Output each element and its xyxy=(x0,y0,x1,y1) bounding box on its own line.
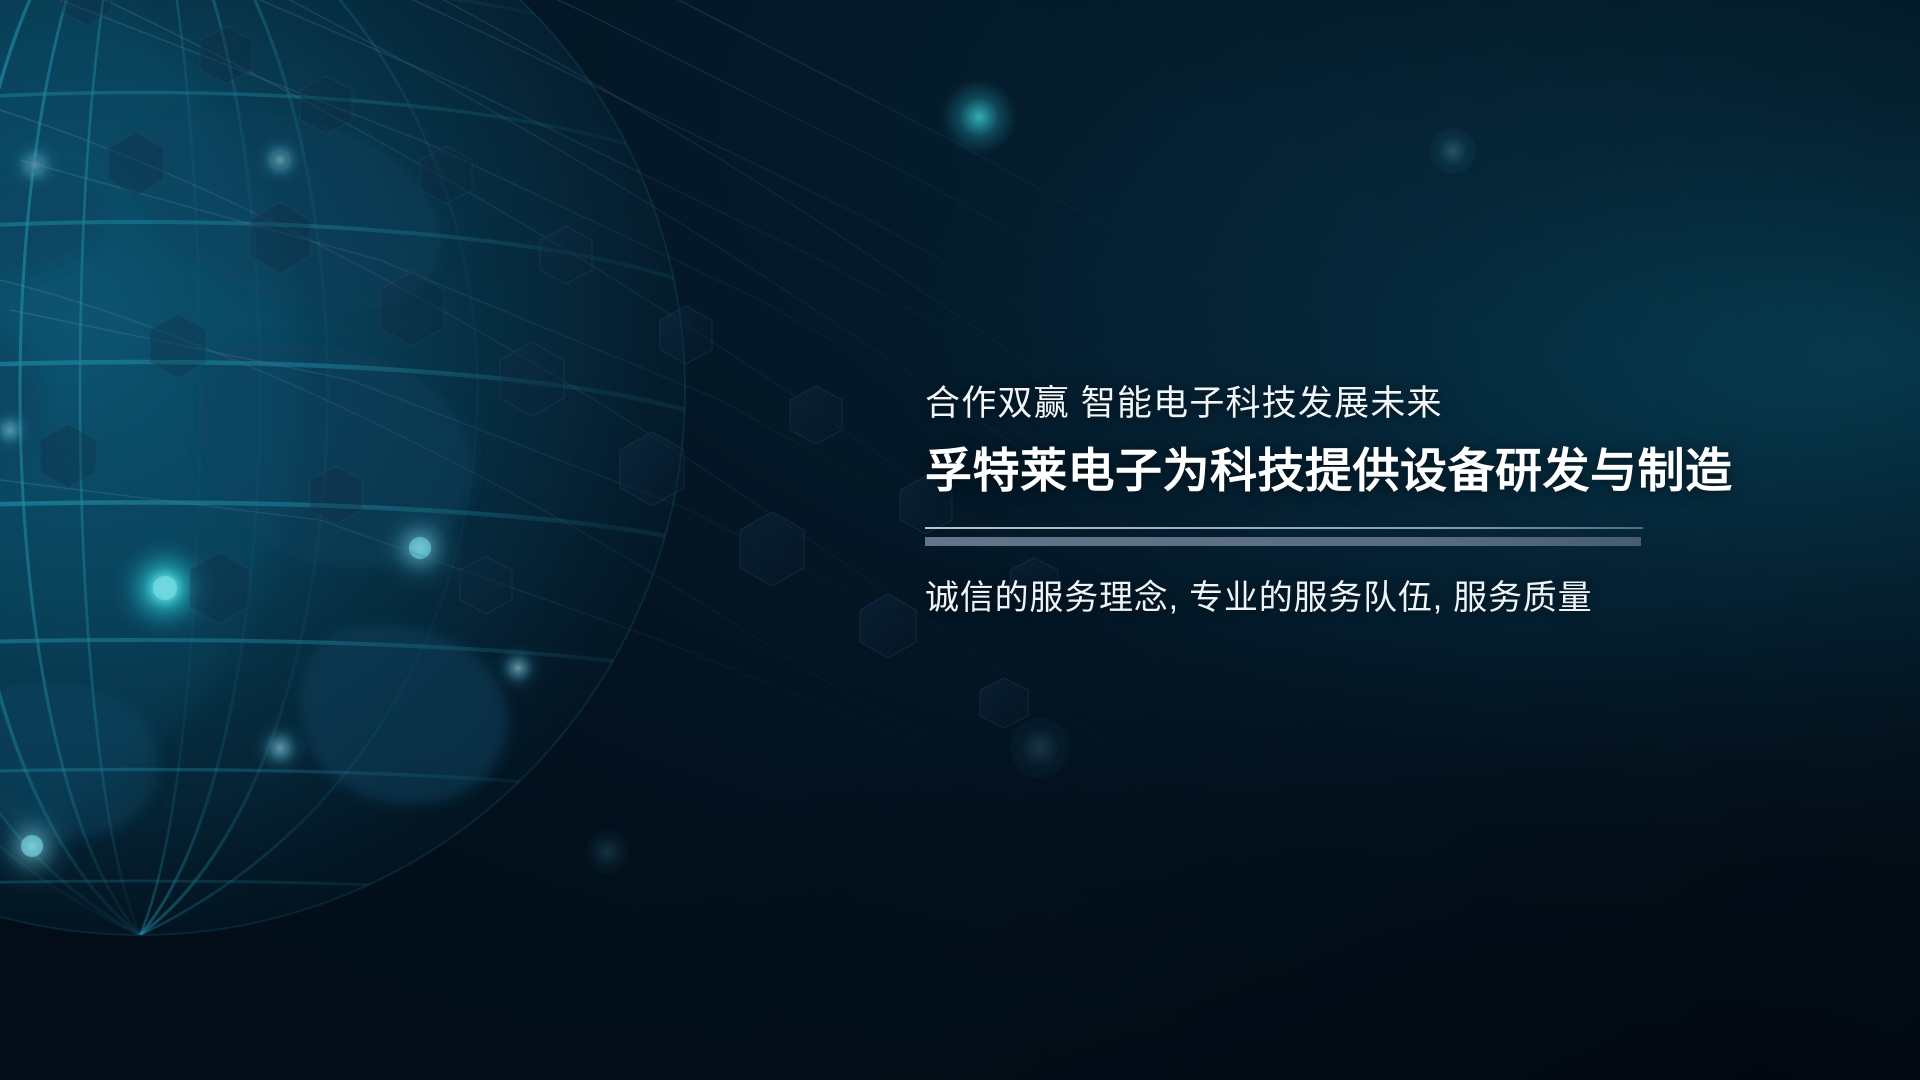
divider-thin-rule xyxy=(925,527,1643,529)
glowing-node-accent-bottom xyxy=(585,830,629,874)
mesh-polygons xyxy=(40,0,1058,728)
hero-copy-block: 合作双赢 智能电子科技发展未来 孚特莱电子为科技提供设备研发与制造 诚信的服务理… xyxy=(925,382,1865,620)
latitude-lines xyxy=(0,0,685,896)
hero-tagline: 诚信的服务理念, 专业的服务队伍, 服务质量 xyxy=(925,577,1865,620)
hero-banner: 合作双赢 智能电子科技发展未来 孚特莱电子为科技提供设备研发与制造 诚信的服务理… xyxy=(0,0,1920,1080)
wireframe-globe xyxy=(0,0,900,1080)
divider-thick-rule xyxy=(925,537,1641,546)
mesh-struts xyxy=(0,0,1290,760)
glowing-node-accent-top xyxy=(940,78,1018,156)
longitude-lines xyxy=(0,0,478,935)
glowing-nodes xyxy=(0,41,544,936)
glowing-node-accent-mid xyxy=(1430,128,1476,174)
hero-divider xyxy=(925,527,1643,549)
hero-eyebrow: 合作双赢 智能电子科技发展未来 xyxy=(925,382,1865,425)
continent-shapes xyxy=(0,112,507,838)
glowing-node-accent-lower xyxy=(1010,718,1070,778)
hero-headline: 孚特莱电子为科技提供设备研发与制造 xyxy=(925,443,1865,499)
